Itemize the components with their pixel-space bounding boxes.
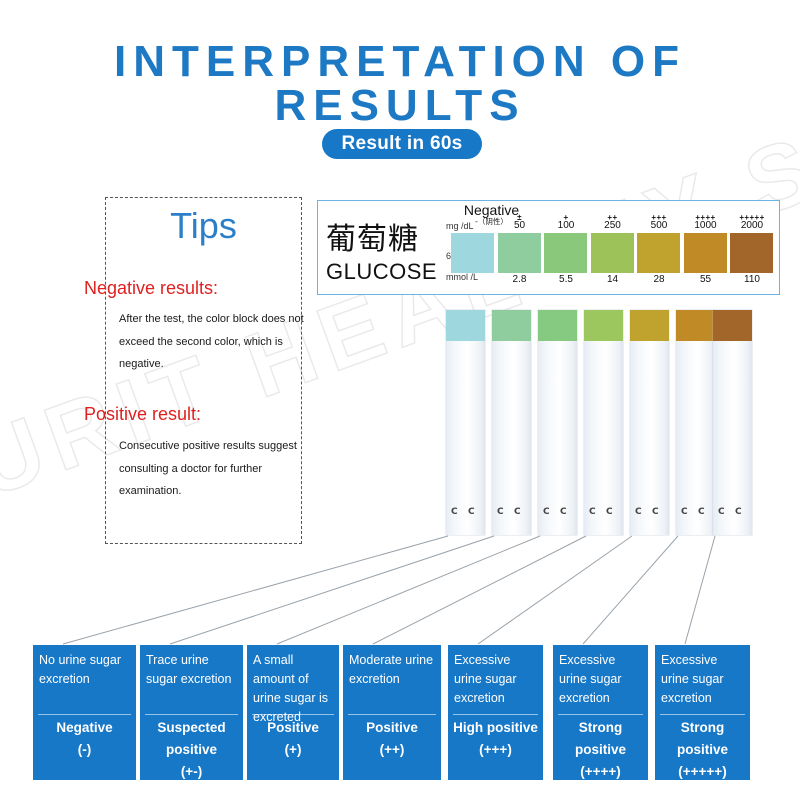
result-verdict-text: Positive xyxy=(346,717,438,739)
result-card[interactable]: Excessive urine sugar excretionStrong po… xyxy=(655,645,750,780)
result-verdict-text: High positive xyxy=(451,717,540,739)
result-sign: (+-) xyxy=(143,761,240,783)
result-description: Moderate urine excretion xyxy=(343,645,441,689)
result-sign: (++++) xyxy=(556,761,645,783)
result-card[interactable]: Excessive urine sugar excretionHigh posi… xyxy=(448,645,543,780)
result-verdict: Positive(++) xyxy=(343,717,441,761)
result-verdict-text: Negative xyxy=(36,717,133,739)
result-description: Excessive urine sugar excretion xyxy=(655,645,750,708)
page-root: URIT HEALTHY STORE INTERPRETATION OF RES… xyxy=(0,0,800,800)
result-sign: (+++) xyxy=(451,739,540,761)
result-divider xyxy=(348,714,436,715)
result-description: No urine sugar excretion xyxy=(33,645,136,689)
result-sign: (++) xyxy=(346,739,438,761)
result-legend-row: No urine sugar excretionNegative(-)Trace… xyxy=(0,0,800,800)
result-verdict: Negative(-) xyxy=(33,717,136,761)
result-verdict: High positive(+++) xyxy=(448,717,543,761)
result-divider xyxy=(145,714,238,715)
result-description: Excessive urine sugar excretion xyxy=(448,645,543,708)
result-verdict-text: Positive xyxy=(250,717,336,739)
result-card[interactable]: No urine sugar excretionNegative(-) xyxy=(33,645,136,780)
result-sign: (+) xyxy=(250,739,336,761)
result-verdict-text: Suspected positive xyxy=(143,717,240,761)
result-divider xyxy=(558,714,644,715)
result-sign: (+++++) xyxy=(658,761,747,783)
result-verdict: Suspected positive(+-) xyxy=(140,717,243,783)
result-divider xyxy=(252,714,335,715)
result-card[interactable]: Excessive urine sugar excretionStrong po… xyxy=(553,645,648,780)
result-verdict-text: Strong positive xyxy=(556,717,645,761)
result-card[interactable]: Trace urine sugar excretionSuspected pos… xyxy=(140,645,243,780)
result-divider xyxy=(38,714,131,715)
result-description: Trace urine sugar excretion xyxy=(140,645,243,689)
result-verdict: Strong positive(++++) xyxy=(553,717,648,783)
result-verdict: Positive(+) xyxy=(247,717,339,761)
result-description: Excessive urine sugar excretion xyxy=(553,645,648,708)
result-sign: (-) xyxy=(36,739,133,761)
result-card[interactable]: Moderate urine excretionPositive(++) xyxy=(343,645,441,780)
result-divider xyxy=(453,714,539,715)
result-verdict: Strong positive(+++++) xyxy=(655,717,750,783)
result-card[interactable]: A small amount of urine sugar is excrete… xyxy=(247,645,339,780)
result-divider xyxy=(660,714,746,715)
result-verdict-text: Strong positive xyxy=(658,717,747,761)
